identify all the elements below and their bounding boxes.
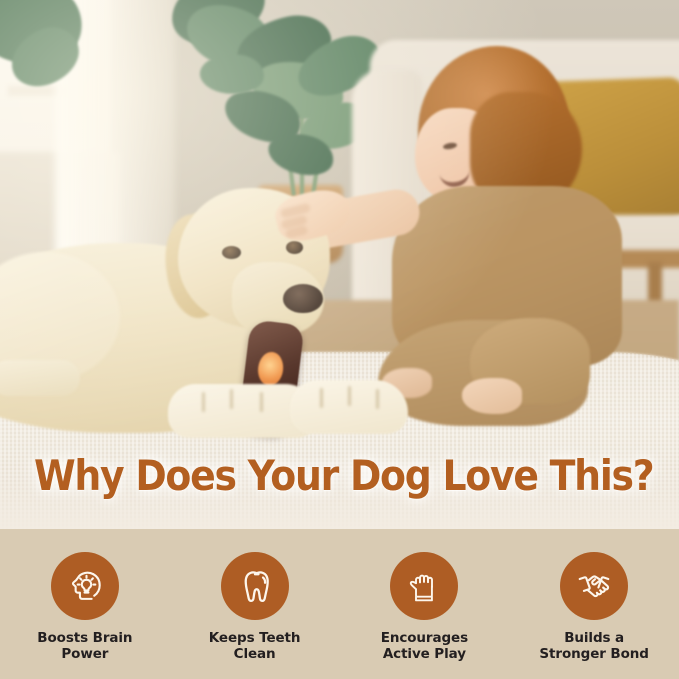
page-title: Why Does Your Dog Love This? xyxy=(34,455,645,497)
dog-nose xyxy=(283,284,323,313)
raised-fist-icon xyxy=(390,552,458,620)
dog-eye xyxy=(222,246,241,259)
lifestyle-photo: Why Does Your Dog Love This? xyxy=(0,0,679,529)
benefit-item-boosts-brain-power[interactable]: Boosts Brain Power xyxy=(0,529,170,679)
benefits-list: Boosts Brain Power Keeps Teeth Clean xyxy=(0,529,679,679)
benefit-item-keeps-teeth-clean[interactable]: Keeps Teeth Clean xyxy=(170,529,340,679)
toy-filling-window xyxy=(256,350,285,387)
product-infographic: Why Does Your Dog Love This? Boosts Brai… xyxy=(0,0,679,679)
dog-hind-leg xyxy=(0,360,80,396)
benefit-label: Boosts Brain Power xyxy=(37,630,132,663)
tooth-icon xyxy=(221,552,289,620)
benefits-band: Boosts Brain Power Keeps Teeth Clean xyxy=(0,529,679,679)
benefit-item-encourages-active-play[interactable]: Encourages Active Play xyxy=(340,529,510,679)
benefit-label: Keeps Teeth Clean xyxy=(209,630,301,663)
head-lightbulb-icon xyxy=(51,552,119,620)
benefit-item-builds-a-stronger-bond[interactable]: Builds a Stronger Bond xyxy=(509,529,679,679)
dog-front-paw xyxy=(290,380,408,434)
benefit-label: Encourages Active Play xyxy=(381,630,468,663)
boy-foot xyxy=(462,378,522,414)
handshake-icon xyxy=(560,552,628,620)
benefit-label: Builds a Stronger Bond xyxy=(539,630,648,663)
dog-eye xyxy=(286,241,303,254)
